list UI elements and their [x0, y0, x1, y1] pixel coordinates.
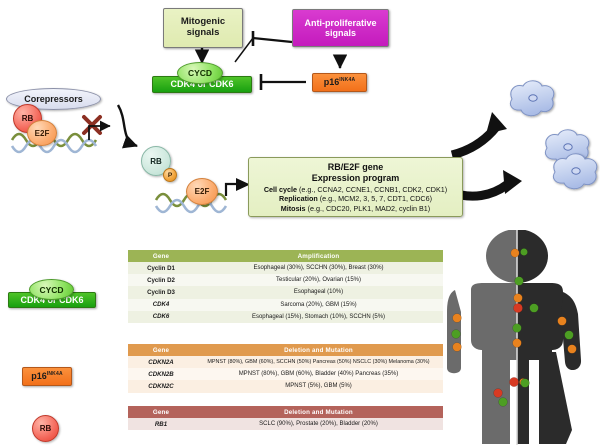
- e2f-bound-circle[interactable]: E2F: [27, 120, 57, 146]
- legend-cycd-label: CYCD: [39, 285, 63, 295]
- antiproliferative-signals-box[interactable]: Anti-proliferative signals: [292, 9, 389, 47]
- legend-rb-circle: RB: [32, 415, 59, 442]
- col-deletion-mutation: Deletion and Mutation: [194, 344, 443, 356]
- legend-p16-box: p16INK4A: [22, 367, 72, 386]
- program-label-replication: Replication: [279, 194, 318, 203]
- rb-bound-label: RB: [22, 114, 34, 123]
- table-header-row: Gene Deletion and Mutation: [128, 344, 443, 356]
- rb-e2f-expression-program-box[interactable]: RB/E2F gene Expression program Cell cycl…: [248, 157, 463, 217]
- amplification-table-body: Cyclin D1 Esophageal (30%), SCCHN (30%),…: [128, 262, 443, 323]
- tissue-marker-green: [520, 248, 527, 255]
- tissue-marker-orange: [453, 343, 462, 352]
- deletion-mutation-cdkn-table: Gene Deletion and Mutation CDKN2A MPNST …: [128, 344, 443, 393]
- program-title-line2: Expression program: [255, 173, 456, 184]
- phosphate-circle: P: [163, 168, 177, 182]
- tissue-marker-red: [513, 303, 522, 312]
- antiproliferative-line1: Anti-proliferative: [304, 18, 376, 28]
- cell-gene: CDK6: [128, 311, 194, 323]
- program-title-line1: RB/E2F gene: [255, 162, 456, 173]
- tissue-marker-orange: [519, 378, 526, 385]
- table-row: RB1 SCLC (90%), Prostate (20%), Bladder …: [128, 418, 443, 430]
- proliferating-cell-2: [545, 130, 588, 165]
- transcription-blocked-x-icon: [84, 117, 100, 133]
- deletion-mutation-cdkn-body: CDKN2A MPNST (80%), GBM (60%), SCCHN (50…: [128, 356, 443, 393]
- tissue-marker-red: [509, 377, 518, 386]
- table-header-row: Gene Amplification: [128, 250, 443, 262]
- tissue-marker-orange: [558, 317, 567, 326]
- proliferating-cell-3: [553, 154, 596, 189]
- cell-gene: Cyclin D3: [128, 286, 194, 298]
- cell-gene: CDKN2C: [128, 380, 194, 392]
- rb-phospho-label: RB: [150, 157, 162, 166]
- corepressors-label: Corepressors: [24, 94, 83, 104]
- tissue-marker-orange: [514, 294, 523, 303]
- cycd-ellipse[interactable]: CYCD: [177, 62, 223, 84]
- e2f-free-label: E2F: [195, 187, 210, 196]
- body-silhouette-right: [471, 229, 581, 444]
- cell-value: SCLC (90%), Prostate (20%), Bladder (20%…: [194, 418, 443, 430]
- tissue-marker-orange: [513, 339, 522, 348]
- cell-value: MPNST (80%), GBM (60%), SCCHN (50%) Panc…: [194, 356, 443, 368]
- program-genes-cell-cycle: (e.g., CCNA2, CCNE1, CCNB1, CDK2, CDK1): [299, 185, 447, 194]
- arrow-to-proliferation-upper: [452, 112, 507, 155]
- p16-superscript: INK4A: [339, 77, 355, 83]
- deletion-mutation-rb1-body: RB1 SCLC (90%), Prostate (20%), Bladder …: [128, 418, 443, 430]
- tissue-marker-orange: [568, 345, 577, 354]
- deletion-mutation-rb1-table: Gene Deletion and Mutation RB1 SCLC (90%…: [128, 406, 443, 430]
- col-deletion-mutation: Deletion and Mutation: [194, 406, 443, 418]
- amplification-table: Gene Amplification Cyclin D1 Esophageal …: [128, 250, 443, 323]
- program-genes-replication: (e.g., MCM2, 3, 5, 7, CDT1, CDC6): [320, 194, 432, 203]
- table-row: CDKN2C MPNST (5%), GBM (5%): [128, 380, 443, 392]
- cell-value: MPNST (5%), GBM (5%): [194, 380, 443, 392]
- table-row: Cyclin D3 Esophageal (10%): [128, 286, 443, 298]
- col-gene: Gene: [128, 406, 194, 418]
- e2f-bound-label: E2F: [35, 129, 50, 138]
- p16-label: p16INK4A: [324, 77, 356, 87]
- col-gene: Gene: [128, 250, 194, 262]
- mitogenic-signals-line2: signals: [187, 28, 220, 39]
- cell-gene: Cyclin D1: [128, 262, 194, 274]
- cell-gene: CDKN2B: [128, 368, 194, 380]
- table-row: CDK4 Sarcoma (20%), GBM (15%): [128, 299, 443, 311]
- inhibition-p16-to-cdk: [261, 74, 306, 90]
- arrow-cdk-to-rb: [118, 105, 137, 146]
- program-genes-mitosis: (e.g., CDC20, PLK1, MAD2, cyclin B1): [308, 204, 431, 213]
- table-header-row: Gene Deletion and Mutation: [128, 406, 443, 418]
- tissue-marker-green: [513, 324, 522, 333]
- program-line-replication: Replication (e.g., MCM2, 3, 5, 7, CDT1, …: [255, 194, 456, 204]
- p16-ink4a-box[interactable]: p16INK4A: [312, 73, 367, 92]
- cell-value: MPNST (80%), GBM (60%), Bladder (40%) Pa…: [194, 368, 443, 380]
- tissue-marker-green: [515, 277, 524, 286]
- body-silhouette-left: [447, 229, 563, 444]
- human-body-map: [447, 229, 581, 445]
- blocked-transcription-arrow: [89, 126, 110, 140]
- tissue-marker-group: [452, 248, 577, 406]
- cell-gene: CDKN2A: [128, 356, 194, 368]
- e2f-free-circle[interactable]: E2F: [186, 178, 218, 205]
- cell-value: Esophageal (30%), SCCHN (30%), Breast (3…: [194, 262, 443, 274]
- table-row: Cyclin D2 Testicular (20%), Ovarian (15%…: [128, 274, 443, 286]
- cell-value: Sarcoma (20%), GBM (15%): [194, 299, 443, 311]
- legend-cycd-ellipse: CYCD: [29, 279, 74, 300]
- phosphate-label: P: [168, 172, 172, 179]
- proliferating-cell-1: [510, 81, 553, 116]
- tissue-marker-orange: [453, 314, 462, 323]
- program-line-mitosis: Mitosis (e.g., CDC20, PLK1, MAD2, cyclin…: [255, 204, 456, 214]
- cell-value: Esophageal (10%): [194, 286, 443, 298]
- antiproliferative-line2: signals: [325, 28, 356, 38]
- table-row: CDK6 Esophageal (15%), Stomach (10%), SC…: [128, 311, 443, 323]
- program-line-cell-cycle: Cell cycle (e.g., CCNA2, CCNE1, CCNB1, C…: [255, 185, 456, 195]
- table-row: CDKN2A MPNST (80%), GBM (60%), SCCHN (50…: [128, 356, 443, 368]
- table-row: Cyclin D1 Esophageal (30%), SCCHN (30%),…: [128, 262, 443, 274]
- active-transcription-arrow: [226, 178, 250, 196]
- tissue-marker-green: [452, 330, 461, 339]
- tissue-marker-green: [521, 379, 530, 388]
- cell-gene: CDK4: [128, 299, 194, 311]
- inhibition-antiproliferative-to-mitogenic: [235, 31, 292, 62]
- program-label-mitosis: Mitosis: [281, 204, 306, 213]
- tissue-marker-green: [499, 398, 508, 407]
- tissue-marker-red: [494, 389, 503, 398]
- legend-rb-label: RB: [40, 424, 52, 433]
- col-amplification: Amplification: [194, 250, 443, 262]
- col-gene: Gene: [128, 344, 194, 356]
- tissue-marker-green: [530, 304, 539, 313]
- cell-value: Esophageal (15%), Stomach (10%), SCCHN (…: [194, 311, 443, 323]
- table-row: CDKN2B MPNST (80%), GBM (60%), Bladder (…: [128, 368, 443, 380]
- tissue-marker-orange: [511, 249, 519, 257]
- program-label-cell-cycle: Cell cycle: [264, 185, 297, 194]
- tissue-marker-green: [565, 331, 574, 340]
- cell-value: Testicular (20%), Ovarian (15%): [194, 274, 443, 286]
- legend-p16-superscript: INK4A: [47, 371, 63, 377]
- legend-p16-label: p16INK4A: [31, 371, 63, 381]
- cycd-label: CYCD: [188, 68, 212, 78]
- cell-gene: RB1: [128, 418, 194, 430]
- mitogenic-signals-box[interactable]: Mitogenic signals: [163, 8, 243, 48]
- cell-gene: Cyclin D2: [128, 274, 194, 286]
